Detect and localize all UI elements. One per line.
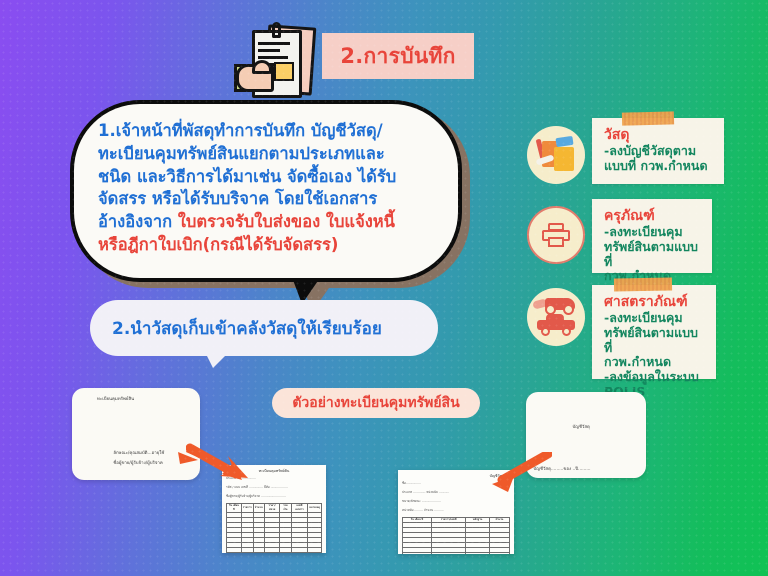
office-supplies-icon <box>527 126 585 184</box>
step-2-speech-bubble: 2.นำวัสดุเก็บเข้าคลังวัสดุให้เรียบร้อย <box>90 300 438 356</box>
infographic-canvas: 2.การบันทึก 1.เจ้าหน้าที่พัสดุทำการบันทึ… <box>0 0 768 576</box>
step-1-line-6: หรือฎีกาใบเบิก(กรณีได้รับจัดสรร) <box>98 234 436 257</box>
paper-heading: ทะเบียนคุมทรัพย์สิน <box>97 396 134 403</box>
col-5: เลขที่เอกสาร <box>291 504 308 513</box>
paper-heading: บัญชีวัสดุ <box>572 424 589 431</box>
info-card-sastraphan[interactable]: ศาสตราภัณฑ์ -ลงทะเบียนคุม ทรัพย์สินตามแบ… <box>592 285 716 379</box>
step-2-bubble-tail <box>205 352 229 368</box>
card-line: ทรัพย์สินตามแบบที่ <box>604 240 702 270</box>
table-row <box>227 548 322 553</box>
table-row <box>403 553 510 554</box>
form-table: วัน เดือน ปี รายการ จำนวน ราคา/หน่วย รวม… <box>226 503 322 553</box>
card-line: -ลงทะเบียนคุม <box>604 311 706 326</box>
washi-tape <box>622 111 674 125</box>
card-title: วัสดุ <box>604 127 714 143</box>
step-2-text: 2.นำวัสดุเก็บเข้าคลังวัสดุให้เรียบร้อย <box>112 315 382 342</box>
card-line: กวพ.กำหนด <box>604 355 706 370</box>
step-1-line-5: อ้างอิงจาก ใบตรวจรับใบส่งของ ใบแจ้งหนี้ <box>98 211 436 234</box>
card-line: -ลงบัญชีวัสดุตาม <box>604 144 714 159</box>
form-meta-4: หน่วยนับ ......... จำนวน .......... <box>398 506 514 515</box>
example-label-badge: ตัวอย่างทะเบียนคุมทรัพย์สิน <box>272 388 480 418</box>
col-1: รายการ <box>241 504 253 513</box>
table-header-row: วัน เดือน ปี รายการ จำนวน ราคา/หน่วย รวม… <box>227 504 322 513</box>
step-1-line-2: ทะเบียนคุมทรัพย์สินแยกตามประเภทและ <box>98 143 436 166</box>
paper-footer-line-1: ลักษณะ/คุณสมบัติ...อายุใช้ <box>113 450 164 457</box>
step-1-line-5-highlight: ใบตรวจรับใบส่งของ ใบแจ้งหนี้ <box>178 212 395 231</box>
vehicle-icon <box>527 288 585 346</box>
printer-icon <box>527 206 585 264</box>
arrow-from-left-paper <box>178 448 202 470</box>
step-1-line-3: ชนิด และวิธีการได้มาเช่น จัดซื้อเอง ได้ร… <box>98 166 436 189</box>
step-1-speech-bubble: 1.เจ้าหน้าที่พัสดุทำการบันทึก บัญชีวัสดุ… <box>70 100 462 282</box>
section-title-banner: 2.การบันทึก <box>322 33 474 79</box>
col-0: วัน เดือน ปี <box>227 504 242 513</box>
col-4: รวมเงิน <box>280 504 291 513</box>
card-line: แบบที่ กวพ.กำหนด <box>604 159 714 174</box>
card-line: ทรัพย์สินตามแบบที่ <box>604 326 706 356</box>
page-title: 2.การบันทึก <box>340 40 455 73</box>
form-meta-3: ขนาด/ลักษณะ .................... <box>398 497 514 506</box>
info-card-kruphan[interactable]: ครุภัณฑ์ -ลงทะเบียนคุม ทรัพย์สินตามแบบที… <box>592 199 712 273</box>
col-3: ราคา/หน่วย <box>264 504 280 513</box>
col-6: หมายเหตุ <box>308 504 322 513</box>
card-line: -ลงข้อมูลในระบบ <box>604 370 706 385</box>
card-line: -ลงทะเบียนคุม <box>604 225 702 240</box>
form-meta-3: ชื่อผู้ขาย/ผู้รับจ้าง/ผู้บริจาค ........… <box>222 492 326 501</box>
info-card-wasadu[interactable]: วัสดุ -ลงบัญชีวัสดุตาม แบบที่ กวพ.กำหนด <box>592 118 724 184</box>
form-table: วัน เดือน ปี รายการ/เลขที่ หลักฐาน จำนวน <box>402 517 510 554</box>
washi-tape <box>614 277 672 291</box>
paper-footer-line-2: ชื่อผู้ขาย/ผู้รับจ้าง/ผู้บริจาค <box>113 460 162 467</box>
card-title: ศาสตราภัณฑ์ <box>604 294 706 310</box>
step-1-line-1: 1.เจ้าหน้าที่พัสดุทำการบันทึก บัญชีวัสดุ… <box>98 120 436 143</box>
card-title: ครุภัณฑ์ <box>604 208 702 224</box>
step-1-line-4: จัดสรร หรือได้รับบริจาค โดยใช้เอกสาร <box>98 188 436 211</box>
clipboard-document-icon <box>236 20 328 106</box>
col-2: จำนวน <box>253 504 264 513</box>
step-1-text: 1.เจ้าหน้าที่พัสดุทำการบันทึก บัญชีวัสดุ… <box>98 120 436 257</box>
step-1-line-5-plain: อ้างอิงจาก <box>98 212 178 231</box>
example-label-text: ตัวอย่างทะเบียนคุมทรัพย์สิน <box>292 392 459 414</box>
arrow-to-right-form <box>486 452 552 496</box>
